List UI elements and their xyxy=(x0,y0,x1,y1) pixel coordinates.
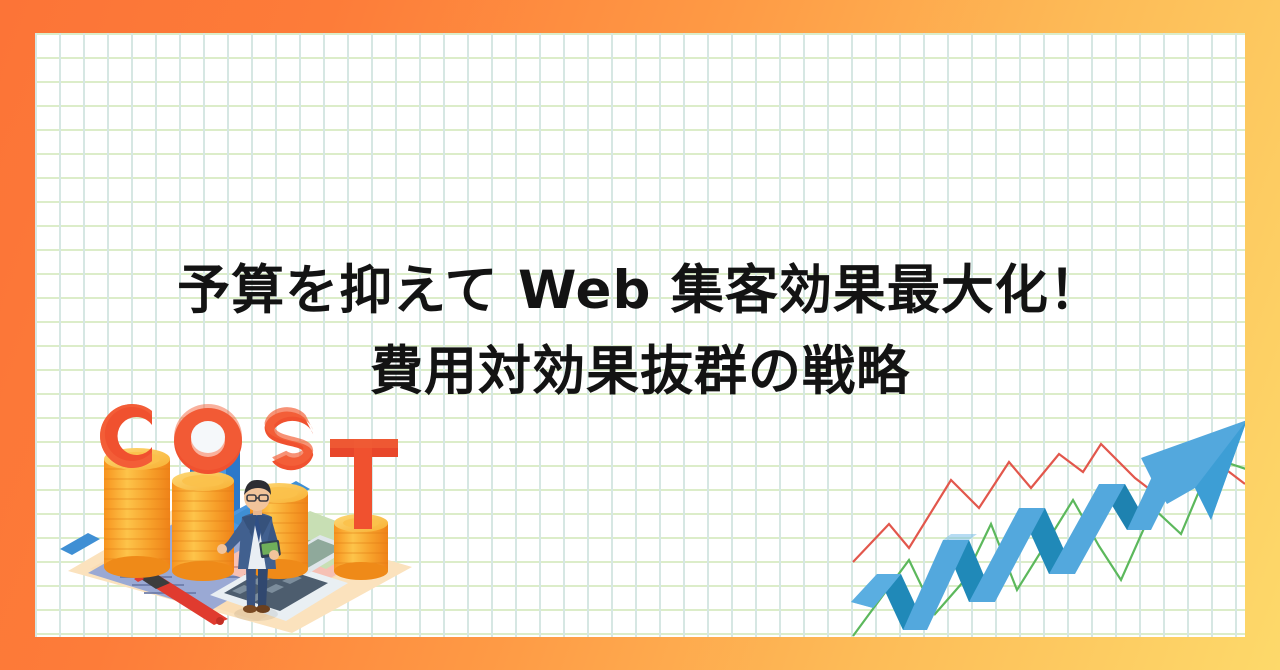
coin-stack-o xyxy=(172,471,234,581)
cost-illustration xyxy=(60,381,420,637)
cost-letter-s xyxy=(265,407,314,470)
growth-chart-illustration xyxy=(851,412,1245,637)
cost-letter-o xyxy=(174,404,242,474)
grid-paper-canvas: 予算を抑えて Web 集客効果最大化！ 費用対効果抜群の戦略 xyxy=(35,33,1245,637)
cost-letter-t xyxy=(330,439,398,529)
title-line-1: 予算を抑えて Web 集客効果最大化！ xyxy=(35,251,1245,332)
